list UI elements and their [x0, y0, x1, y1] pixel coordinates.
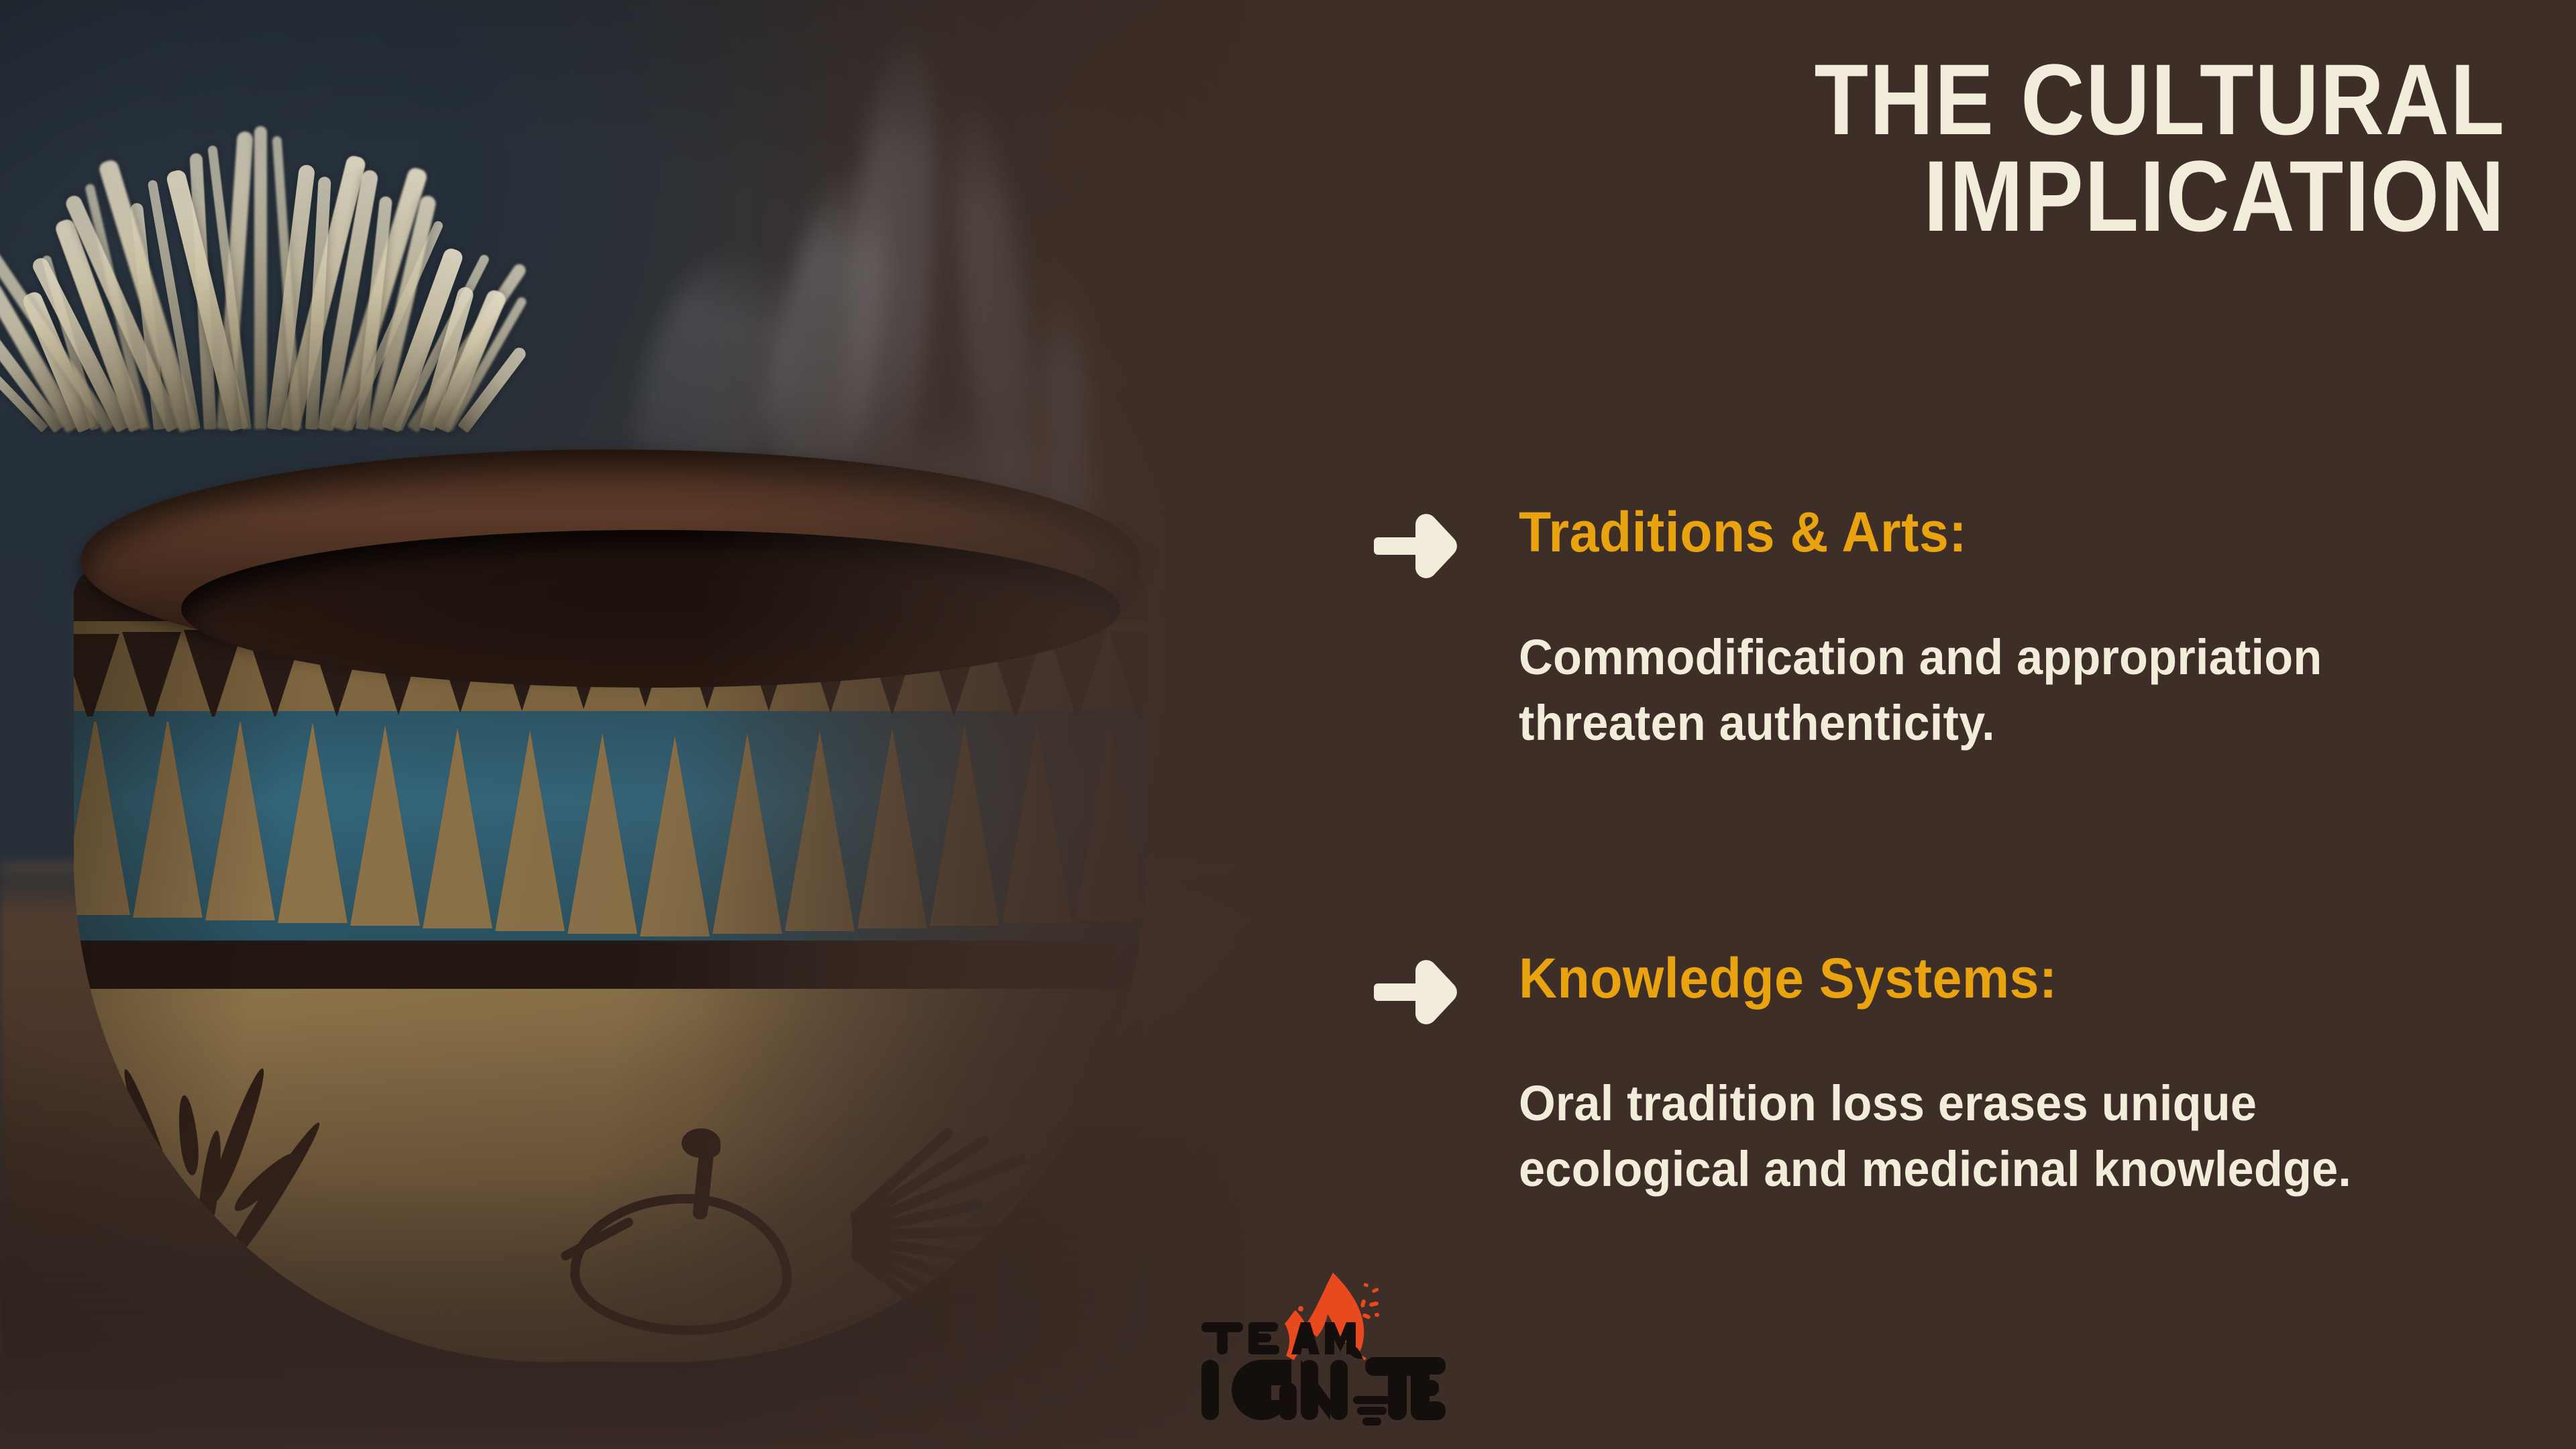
- bullet-header: Traditions & Arts:: [1374, 506, 2536, 587]
- arrow-right-icon: [1374, 958, 1458, 1028]
- logo-word-team: [1201, 1322, 1356, 1354]
- bullet-body: Oral tradition loss erases unique ecolog…: [1519, 1071, 2485, 1201]
- bird-motif: [543, 1134, 832, 1362]
- leaf-motif: [114, 1040, 315, 1322]
- bullet-header: Knowledge Systems:: [1374, 953, 2536, 1033]
- sage-bundle: [27, 148, 496, 429]
- pottery-bowl: [40, 402, 1181, 1368]
- bullet-body: Commodification and appropriation threat…: [1519, 625, 2485, 755]
- slide-root: THE CULTURAL IMPLICATION Traditions & Ar…: [0, 0, 2576, 1449]
- feather-motif: [852, 1114, 1073, 1355]
- triangle-pattern: [74, 722, 1147, 936]
- logo-svg: [1164, 1258, 1446, 1432]
- arrow-right-icon: [1374, 512, 1458, 582]
- page-title: THE CULTURAL IMPLICATION: [1620, 51, 2506, 244]
- bullet-title: Traditions & Arts:: [1519, 502, 1967, 561]
- bullet-title: Knowledge Systems:: [1519, 949, 2057, 1008]
- pot-rim: [80, 449, 1140, 671]
- bullet-item-knowledge-systems: Knowledge Systems: Oral tradition loss e…: [1374, 953, 2536, 1201]
- content-column: THE CULTURAL IMPLICATION Traditions & Ar…: [1342, 0, 2576, 1449]
- team-ignite-logo: [1164, 1258, 1446, 1432]
- bullet-item-traditions-arts: Traditions & Arts: Commodification and a…: [1374, 506, 2536, 755]
- hero-photo: [0, 0, 1342, 1449]
